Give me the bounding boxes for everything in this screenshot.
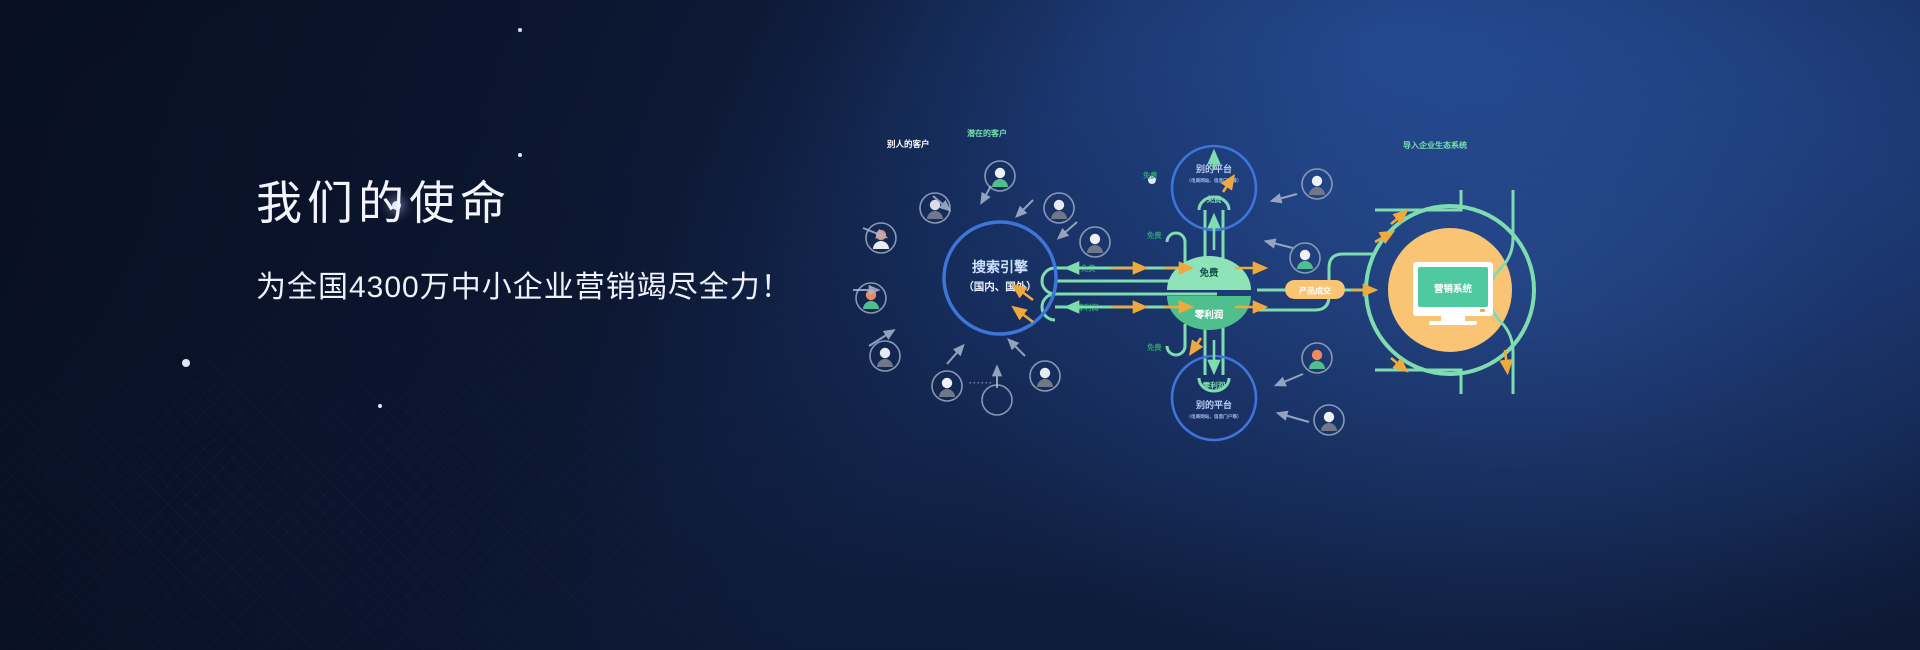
hook-tag-free-top: 免费 — [1147, 231, 1161, 240]
page-subtitle: 为全国4300万中小企业营销竭尽全力！ — [256, 268, 792, 307]
avatar-13 — [982, 385, 1012, 415]
hub-free-node: 免费 — [1167, 256, 1251, 290]
marketing-ecosystem-diagram: 营销系统 免费 零利润 搜索引擎 （国内、国外） 别的平台 （电商网站、信息门户… — [905, 150, 1525, 440]
rail-tags: 免费 零利润 免费 免费 免费 — [1076, 171, 1161, 352]
platform-bottom-title: 别的平台 — [1195, 399, 1232, 410]
avatar-8 — [1030, 361, 1060, 391]
product-deal-badge: 产品成交 — [1285, 280, 1345, 299]
platform-bottom-subtitle: （电商网站、信息门户等） — [1186, 413, 1241, 420]
marketing-system-label: 营销系统 — [1434, 283, 1473, 295]
avatar-9 — [1302, 169, 1332, 199]
avatar-11 — [1302, 343, 1332, 373]
platform-bottom: 零利润 别的平台 （电商网站、信息门户等） — [1172, 356, 1256, 440]
avatar-2 — [1044, 193, 1074, 223]
avatar-12 — [1314, 405, 1344, 435]
decor-dot-0 — [518, 28, 522, 32]
decor-dot-3 — [182, 359, 190, 367]
product-deal-label: 产品成交 — [1299, 286, 1331, 296]
avatar-10 — [1290, 243, 1320, 273]
hero-copy: 我们的使命 为全国4300万中小企业营销竭尽全力！ — [256, 176, 792, 307]
label-import-ecosystem: 导入企业生态系统 — [1403, 140, 1467, 150]
label-ellipsis: ······ — [969, 378, 993, 388]
avatar-cluster — [856, 161, 1344, 435]
side-tag-free-upper: 免费 — [1143, 171, 1157, 180]
avatar-7 — [932, 371, 962, 401]
page-title: 我们的使命 — [256, 176, 792, 230]
search-engine-subtitle: （国内、国外） — [963, 280, 1037, 293]
hub-free-label: 免费 — [1199, 267, 1219, 279]
platform-bottom-tag: 零利润 — [1202, 380, 1226, 390]
label-others-customers: 别人的客户 — [886, 139, 930, 149]
search-engine-title: 搜索引擎 — [972, 259, 1028, 275]
label-potential-customers: 潜在的客户 — [967, 128, 1007, 138]
avatar-1 — [985, 161, 1015, 191]
hook-tag-free-bottom: 免费 — [1147, 343, 1161, 352]
platform-top-tag: 免费 — [1207, 194, 1223, 204]
hub-zero-profit-node: 零利润 — [1167, 296, 1251, 330]
hero-banner: 我们的使命 为全国4300万中小企业营销竭尽全力！ — [0, 0, 1920, 650]
marketing-system-monitor: 营销系统 — [1413, 262, 1493, 325]
hub-zero-profit-label: 零利润 — [1194, 309, 1224, 321]
search-engine-circle: 搜索引擎 （国内、国外） — [944, 222, 1056, 334]
avatar-4 — [1080, 227, 1110, 257]
platform-top-subtitle: （电商网站、信息门户等） — [1186, 177, 1241, 184]
